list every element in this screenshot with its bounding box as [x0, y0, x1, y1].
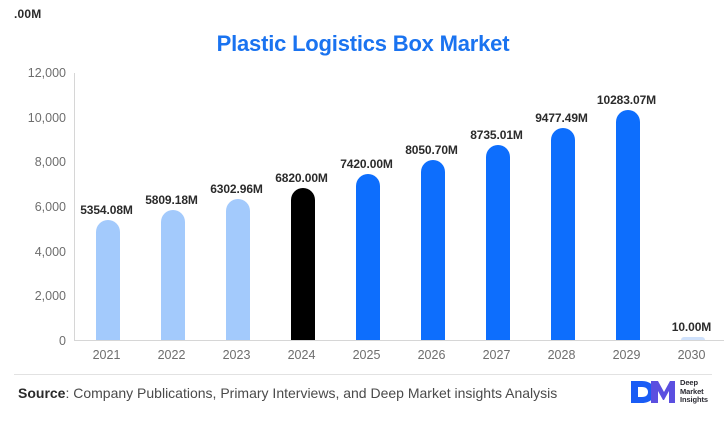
bar-value-label-2028: 9477.49M [535, 111, 588, 125]
y-axis-tick: 12,000 [6, 66, 66, 80]
bar-2023[interactable] [226, 199, 250, 340]
y-axis-tick: 8,000 [6, 155, 66, 169]
x-axis-tick-2024: 2024 [288, 348, 316, 362]
bar-value-label-2030: 10.00M [672, 320, 711, 334]
bar-2027[interactable] [486, 145, 510, 340]
source-label: Source [18, 385, 65, 401]
x-axis-tick-2022: 2022 [158, 348, 186, 362]
x-axis-tick-2026: 2026 [418, 348, 446, 362]
bar-value-label-2024: 6820.00M [275, 171, 328, 185]
chart-page: .00M Plastic Logistics Box Market 02,000… [0, 0, 726, 443]
bar-value-label-2022: 5809.18M [145, 193, 198, 207]
bar-value-label-2025: 7420.00M [340, 157, 393, 171]
y-axis-tick: 0 [6, 334, 66, 348]
bar-2029[interactable] [616, 110, 640, 340]
bar-2021[interactable] [96, 220, 120, 340]
footer-divider [14, 374, 712, 375]
bar-2024[interactable] [291, 188, 315, 340]
source-note: Source: Company Publications, Primary In… [18, 385, 557, 401]
chart-title: Plastic Logistics Box Market [0, 31, 726, 57]
x-axis-tick-2023: 2023 [223, 348, 251, 362]
bar-2026[interactable] [421, 160, 445, 340]
bar-value-label-2027: 8735.01M [470, 128, 523, 142]
x-axis-tick-2025: 2025 [353, 348, 381, 362]
bar-value-label-2026: 8050.70M [405, 143, 458, 157]
bar-value-label-2029: 10283.07M [597, 93, 656, 107]
bar-value-label-2021: 5354.08M [80, 203, 133, 217]
bar-2030[interactable] [681, 337, 705, 340]
dm-monogram-icon [630, 379, 676, 405]
bar-2022[interactable] [161, 210, 185, 340]
x-axis-tick-2030: 2030 [678, 348, 706, 362]
logo-line-3: Insights [680, 396, 708, 405]
y-axis-tick: 6,000 [6, 200, 66, 214]
source-text: : Company Publications, Primary Intervie… [65, 385, 557, 401]
x-axis-tick-2029: 2029 [613, 348, 641, 362]
y-axis-tick: 2,000 [6, 289, 66, 303]
y-axis-tick: 10,000 [6, 111, 66, 125]
x-axis-tick-2021: 2021 [93, 348, 121, 362]
x-axis-tick-2027: 2027 [483, 348, 511, 362]
x-axis-tick-2028: 2028 [548, 348, 576, 362]
logo-wordmark: Deep Market Insights [680, 379, 708, 405]
bar-2028[interactable] [551, 128, 575, 340]
clipped-top-label: .00M [14, 8, 41, 24]
bar-value-label-2023: 6302.96M [210, 182, 263, 196]
y-axis-tick: 4,000 [6, 245, 66, 259]
bar-2025[interactable] [356, 174, 380, 340]
brand-logo: Deep Market Insights [630, 379, 708, 405]
